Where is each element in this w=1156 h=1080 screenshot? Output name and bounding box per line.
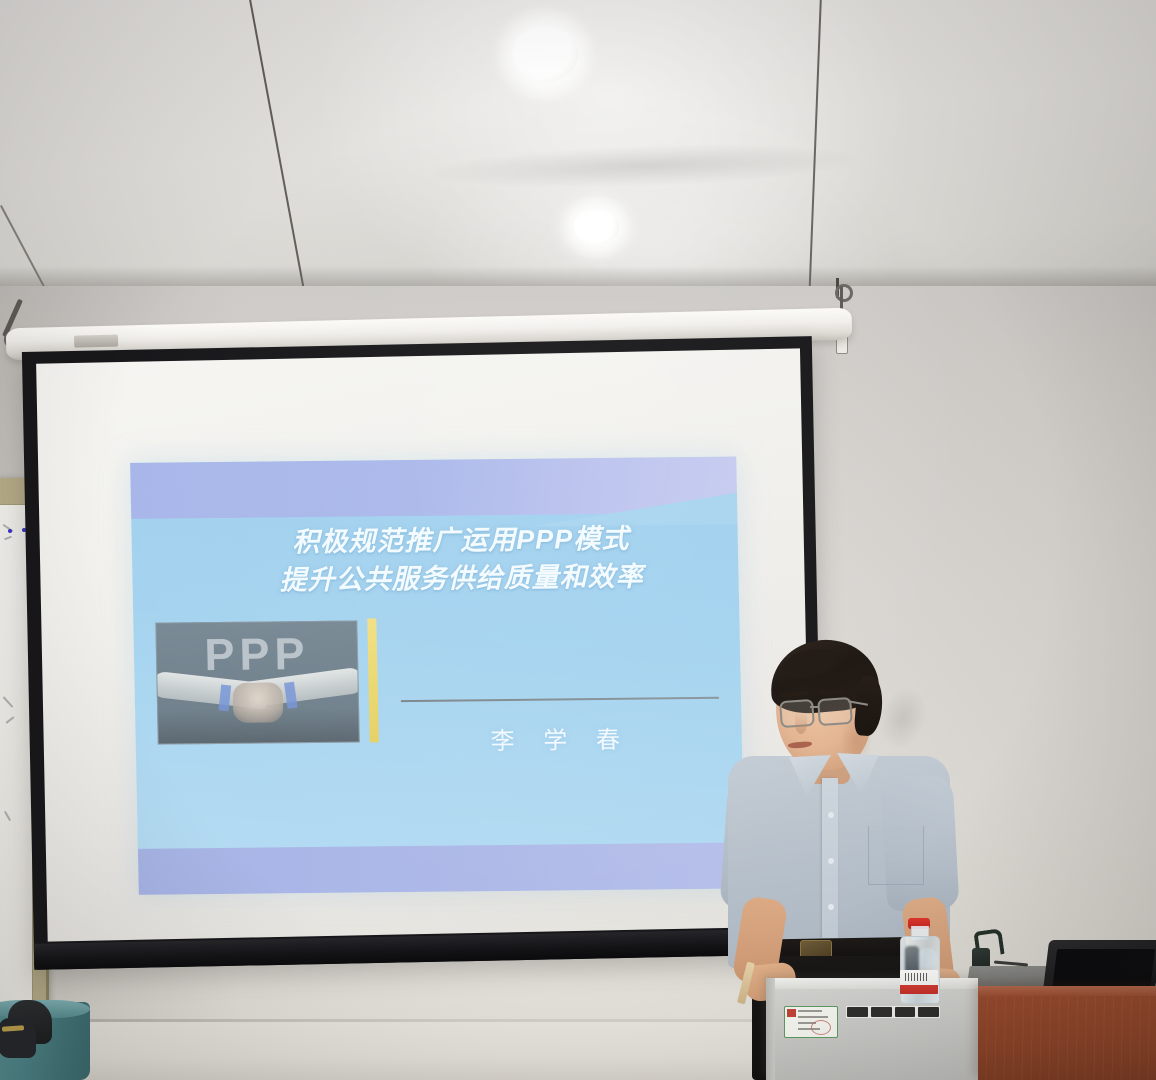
- handshake-cuff-left: [219, 684, 232, 711]
- bottle-barcode: [905, 973, 927, 981]
- photo-shadow: [158, 708, 359, 744]
- slide-title-line-1: 积极规范推广运用PPP模式: [195, 519, 726, 563]
- whiteboard-marking: [3, 696, 14, 708]
- shirt-button: [828, 904, 834, 910]
- bottle-label: [900, 970, 938, 994]
- lectern: [978, 986, 1156, 1080]
- downlight-icon: [490, 8, 600, 100]
- equipment-cabinet[interactable]: [766, 978, 978, 1080]
- slide-handshake-photo: PPP: [155, 621, 359, 745]
- projection-screen[interactable]: 积极规范推广运用PPP模式 提升公共服务供给质量和效率 PPP 李 学 春: [22, 336, 824, 970]
- label-red-stamp: [787, 1009, 796, 1017]
- ceiling-seam-line: [248, 0, 305, 289]
- label-round-seal: [811, 1020, 831, 1035]
- presentation-slide: 积极规范推广运用PPP模式 提升公共服务供给质量和效率 PPP 李 学 春: [130, 457, 745, 895]
- glasses-bridge: [810, 706, 819, 708]
- whiteboard-dot: [8, 529, 12, 533]
- lectern-wood-grain: [978, 996, 1156, 1080]
- shirt-button: [828, 812, 834, 818]
- projection-screen-surface: 积极规范推广运用PPP模式 提升公共服务供给质量和效率 PPP 李 学 春: [36, 348, 811, 941]
- shirt-pocket: [868, 826, 924, 885]
- cabinet-certificate-label: [784, 1006, 838, 1038]
- downlight-bulb: [512, 26, 578, 82]
- cabinet-port[interactable]: [871, 1007, 892, 1017]
- cabinet-left-edge: [766, 978, 775, 1080]
- trash-bag-secondary: [0, 1018, 36, 1058]
- nose: [795, 712, 807, 734]
- lectern-top-edge: [978, 986, 1156, 996]
- cabinet-port[interactable]: [847, 1007, 868, 1017]
- cabinet-port[interactable]: [895, 1007, 916, 1017]
- podium-monitor[interactable]: [1043, 940, 1156, 992]
- downlight-icon: [556, 196, 636, 258]
- slide-title-line-2: 提升公共服务供给质量和效率: [196, 557, 727, 601]
- water-bottle[interactable]: [900, 918, 938, 1002]
- cabinet-port[interactable]: [918, 1007, 939, 1017]
- whiteboard-marking: [4, 536, 12, 541]
- downlight-bulb: [573, 210, 619, 244]
- whiteboard-marking: [5, 716, 14, 724]
- label-text-line: [798, 1016, 828, 1018]
- label-text-line: [798, 1010, 822, 1012]
- slide-bottom-band: [138, 843, 745, 895]
- cabinet-port-strip[interactable]: [846, 1006, 940, 1018]
- screen-housing-label: [74, 335, 118, 348]
- screen-hook-right: [835, 284, 853, 302]
- ceiling: [0, 0, 1156, 300]
- lecture-hall-scene: 积极规范推广运用PPP模式 提升公共服务供给质量和效率 PPP 李 学 春: [0, 0, 1156, 1080]
- shirt-button: [828, 858, 834, 864]
- slide-divider-rule: [401, 697, 719, 702]
- slide-accent-bar: [367, 618, 378, 742]
- slide-title: 积极规范推广运用PPP模式 提升公共服务供给质量和效率: [195, 519, 727, 601]
- whiteboard-marking: [4, 811, 11, 822]
- ceiling-smudge: [429, 139, 860, 194]
- cabinet-top-surface: [766, 978, 978, 989]
- slide-presenter-name: 李 学 春: [401, 719, 720, 757]
